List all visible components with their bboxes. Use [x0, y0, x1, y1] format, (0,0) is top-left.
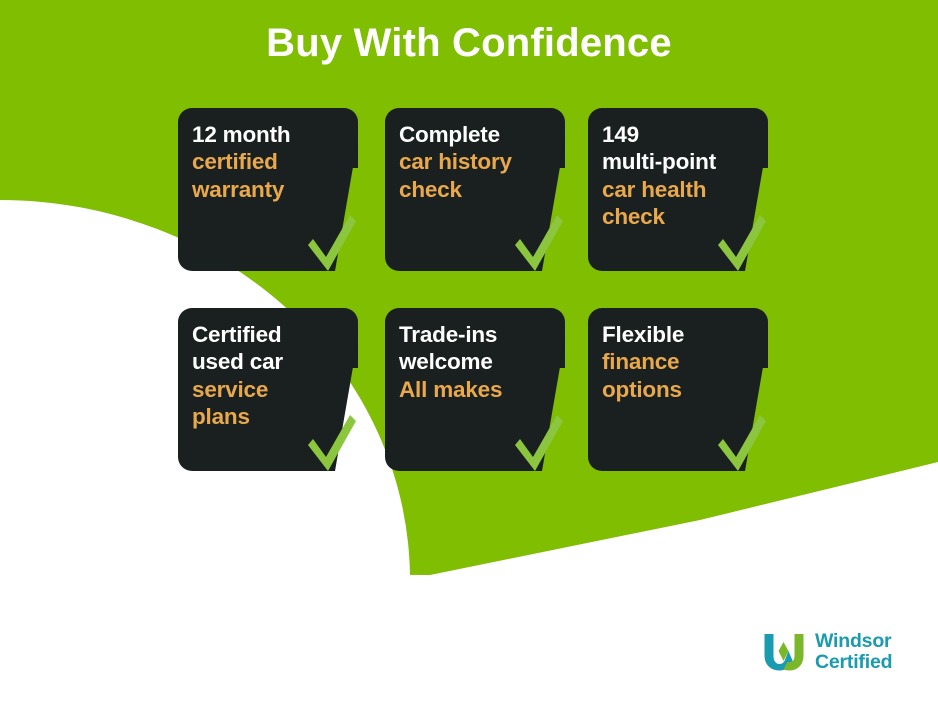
logo-line-1: Windsor — [815, 631, 892, 652]
brand-logo[interactable]: Windsor Certified — [762, 626, 930, 678]
card-accent-line: finance — [602, 348, 762, 375]
feature-card-4[interactable]: Certified used car service plans — [178, 308, 358, 471]
feature-card-1[interactable]: 12 month certified warranty — [178, 108, 358, 271]
feature-card-2[interactable]: Complete car history check — [385, 108, 565, 271]
card-white-line: Flexible — [602, 321, 762, 348]
card-accent-line: car health — [602, 176, 762, 203]
card-text: 12 month certified warranty — [192, 121, 352, 203]
card-text: Complete car history check — [399, 121, 559, 203]
card-text: Certified used car service plans — [192, 321, 352, 431]
windsor-w-monogram-icon — [762, 632, 806, 672]
feature-card-3[interactable]: 149 multi-point car health check — [588, 108, 768, 271]
card-white-line: 149 — [602, 121, 762, 148]
card-accent-line: check — [602, 203, 762, 230]
card-text: Flexible finance options — [602, 321, 762, 403]
card-white-line: Certified — [192, 321, 352, 348]
card-white-line: multi-point — [602, 148, 762, 175]
page-title: Buy With Confidence — [0, 20, 938, 66]
card-accent-line: car history — [399, 148, 559, 175]
logo-line-2: Certified — [815, 652, 892, 673]
logo-wordmark: Windsor Certified — [815, 631, 892, 673]
card-text: 149 multi-point car health check — [602, 121, 762, 231]
card-white-line: 12 month — [192, 121, 352, 148]
card-white-line: Trade-ins — [399, 321, 559, 348]
card-accent-line: service — [192, 376, 352, 403]
feature-card-5[interactable]: Trade-ins welcome All makes — [385, 308, 565, 471]
card-accent-line: All makes — [399, 376, 559, 403]
card-accent-line: options — [602, 376, 762, 403]
card-white-line: used car — [192, 348, 352, 375]
feature-card-6[interactable]: Flexible finance options — [588, 308, 768, 471]
promo-banner: Buy With Confidence 12 month certified w… — [0, 0, 938, 704]
card-white-line: Complete — [399, 121, 559, 148]
card-white-line: welcome — [399, 348, 559, 375]
card-accent-line: plans — [192, 403, 352, 430]
card-text: Trade-ins welcome All makes — [399, 321, 559, 403]
card-accent-line: certified — [192, 148, 352, 175]
card-accent-line: check — [399, 176, 559, 203]
card-accent-line: warranty — [192, 176, 352, 203]
